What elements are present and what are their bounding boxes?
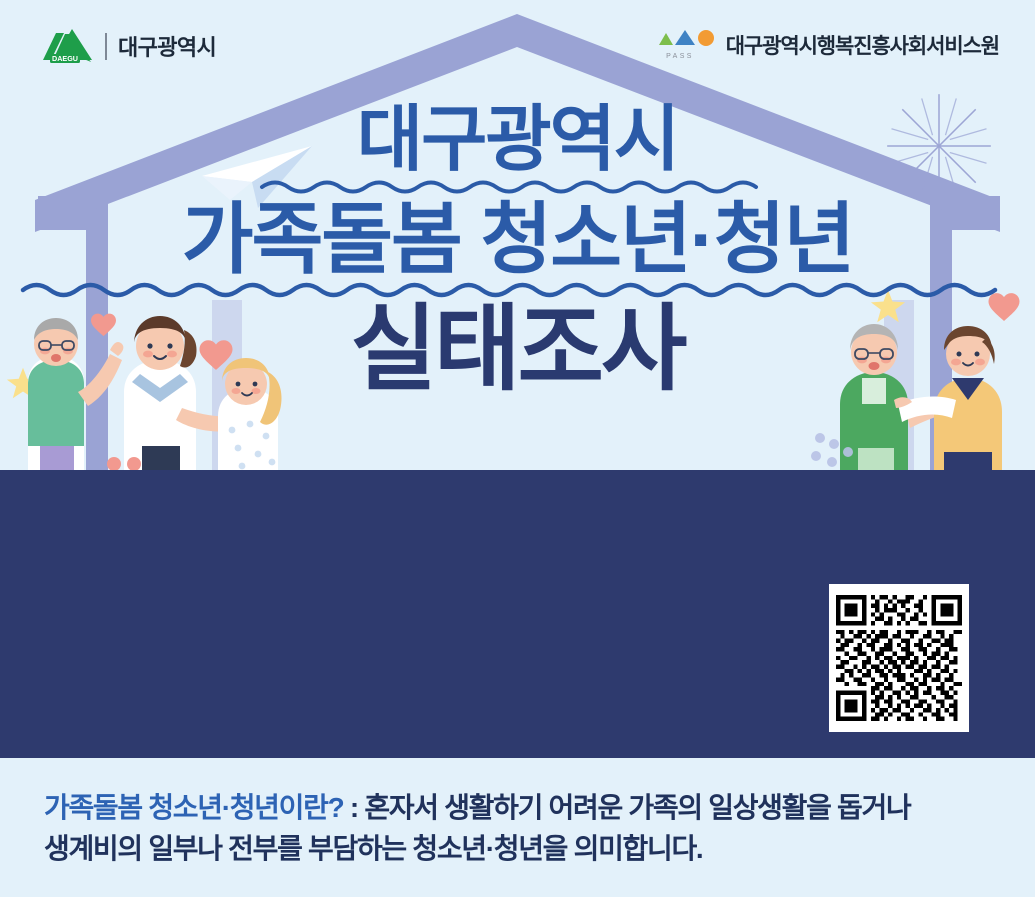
sparkle-burst-icon (885, 92, 993, 200)
footer-question: 가족돌봄 청소년·청년이란? (44, 792, 343, 823)
daegu-logo-label: 대구광역시 (118, 30, 216, 62)
pass-mark-text: PASS (666, 53, 694, 60)
pass-chevron-logo-icon: PASS (658, 28, 716, 62)
paper-plane-icon (200, 142, 320, 212)
family-group-left-icon (6, 296, 316, 476)
footer-definition: 가족돌봄 청소년·청년이란? : 혼자서 생활하기 어려운 가족의 일상생활을 … (0, 758, 1035, 897)
daegu-mountain-logo-icon: DAEGU (42, 27, 94, 65)
footer-body-2: 생계비의 일부나 전부를 부담하는 청소년·청년을 의미합니다. (44, 833, 702, 864)
survey-qr-code[interactable] (829, 584, 969, 732)
header: DAEGU 대구광역시 PASS 대구광역시행복진흥사회서비스원 (0, 0, 1035, 82)
logo-divider (105, 33, 107, 60)
family-group-right-icon (810, 300, 1035, 476)
pass-logo-label: 대구광역시행복진흥사회서비스원 (726, 30, 999, 60)
footer-separator: : (343, 792, 364, 823)
qr-code-icon[interactable] (836, 591, 962, 725)
pass-logo: PASS 대구광역시행복진흥사회서비스원 (658, 28, 999, 62)
footer-body-1: 혼자서 생활하기 어려운 가족의 일상생활을 돕거나 (364, 792, 910, 823)
footer-text: 가족돌봄 청소년·청년이란? : 혼자서 생활하기 어려운 가족의 일상생활을 … (44, 788, 991, 869)
svg-text:DAEGU: DAEGU (52, 54, 78, 63)
poster-root: DAEGU 대구광역시 PASS 대구광역시행복진흥사회서비스원 (0, 0, 1035, 897)
daegu-logo: DAEGU 대구광역시 (42, 27, 216, 65)
